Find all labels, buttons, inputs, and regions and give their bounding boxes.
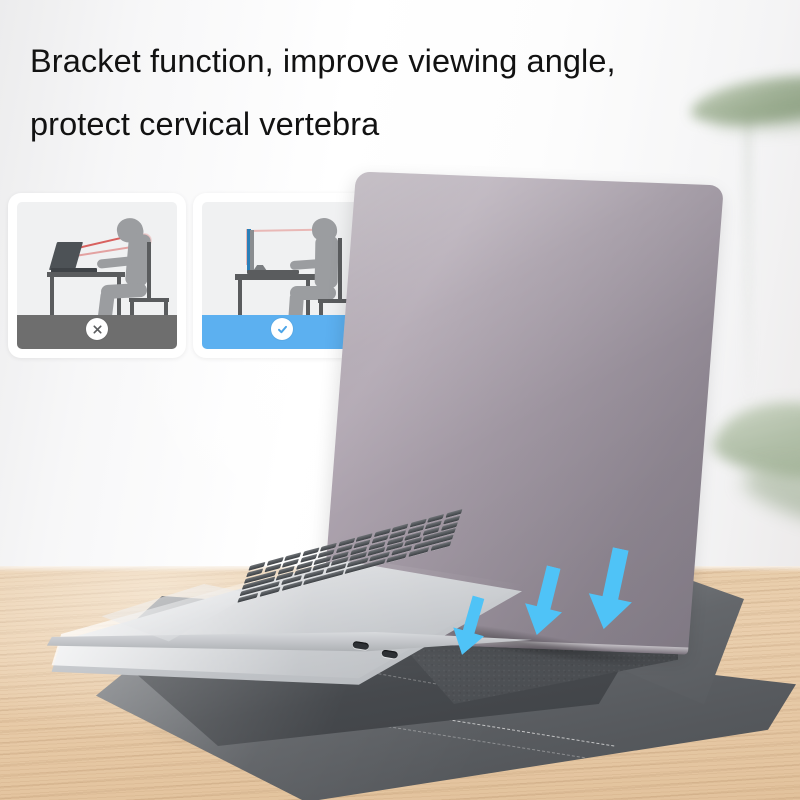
arrow-down-icon <box>444 592 496 662</box>
arrow-down-2 <box>516 562 574 642</box>
arrow-down-icon <box>580 544 644 636</box>
arrow-down-3 <box>580 544 644 636</box>
product-marketing-image: Bracket function, improve viewing angle,… <box>0 0 800 800</box>
arrow-down-icon <box>516 562 574 642</box>
arrow-down-1 <box>444 592 496 662</box>
direction-arrow-group <box>0 0 800 800</box>
